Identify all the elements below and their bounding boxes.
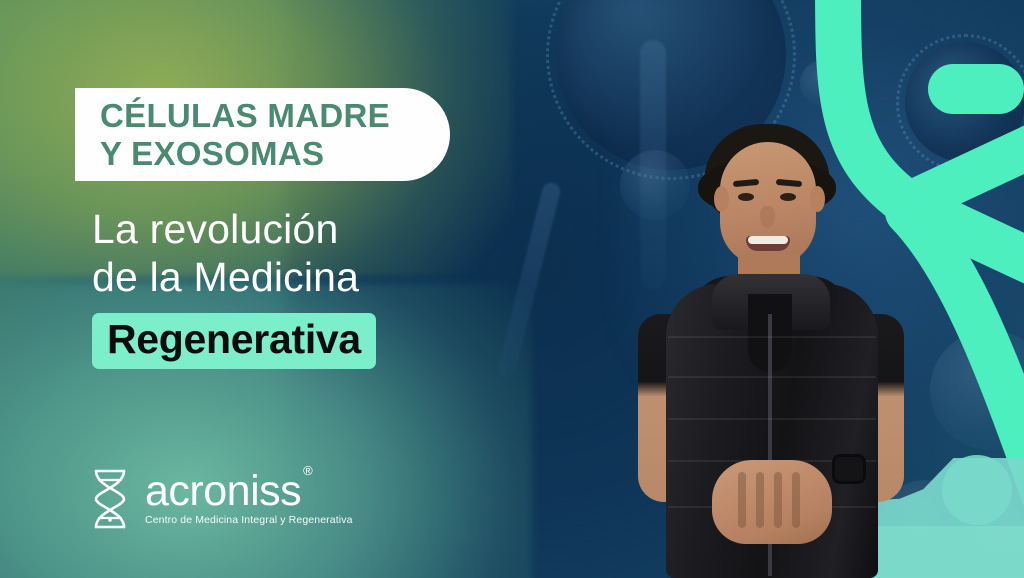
topic-badge-title: CÉLULAS MADRE Y EXOSOMAS bbox=[100, 97, 390, 172]
presenter-ear-right bbox=[810, 186, 825, 212]
logo-wordmark-text: acroniss bbox=[145, 467, 301, 515]
presenter-finger bbox=[774, 472, 782, 528]
logo-text-block: acroniss® Centro de Medicina Integral y … bbox=[145, 472, 353, 527]
presenter-vest-seam bbox=[668, 376, 876, 378]
promo-slide: CÉLULAS MADRE Y EXOSOMAS La revolución d… bbox=[0, 0, 1024, 578]
presenter-vest-seam bbox=[668, 336, 876, 338]
presenter-teeth bbox=[748, 236, 788, 244]
presenter-eye-left bbox=[738, 193, 754, 201]
presenter-mouth bbox=[746, 236, 790, 251]
presenter-nose bbox=[760, 206, 775, 228]
headline-line-1: La revolución bbox=[92, 205, 512, 253]
presenter-photo bbox=[570, 108, 970, 578]
headline-line-2: de la Medicina bbox=[92, 253, 512, 301]
mint-pill-shape bbox=[928, 64, 1024, 114]
logo-tagline: Centro de Medicina Integral y Regenerati… bbox=[145, 514, 353, 526]
headline-block: La revolución de la Medicina Regenerativ… bbox=[92, 205, 512, 369]
presenter-ear-left bbox=[714, 186, 729, 212]
presenter-vest-seam bbox=[668, 418, 876, 420]
headline-highlight: Regenerativa bbox=[92, 313, 376, 369]
presenter-finger bbox=[738, 472, 746, 528]
presenter-eye-right bbox=[780, 193, 796, 201]
presenter-finger bbox=[756, 472, 764, 528]
registered-mark: ® bbox=[303, 463, 312, 478]
dna-helix-icon bbox=[88, 468, 132, 530]
logo-wordmark: acroniss® bbox=[145, 472, 353, 512]
acroniss-logo: acroniss® Centro de Medicina Integral y … bbox=[88, 468, 353, 530]
presenter-finger bbox=[792, 472, 800, 528]
topic-badge: CÉLULAS MADRE Y EXOSOMAS bbox=[75, 88, 450, 181]
presenter-wristwatch bbox=[832, 454, 866, 484]
presenter-clasped-hands bbox=[712, 460, 832, 544]
